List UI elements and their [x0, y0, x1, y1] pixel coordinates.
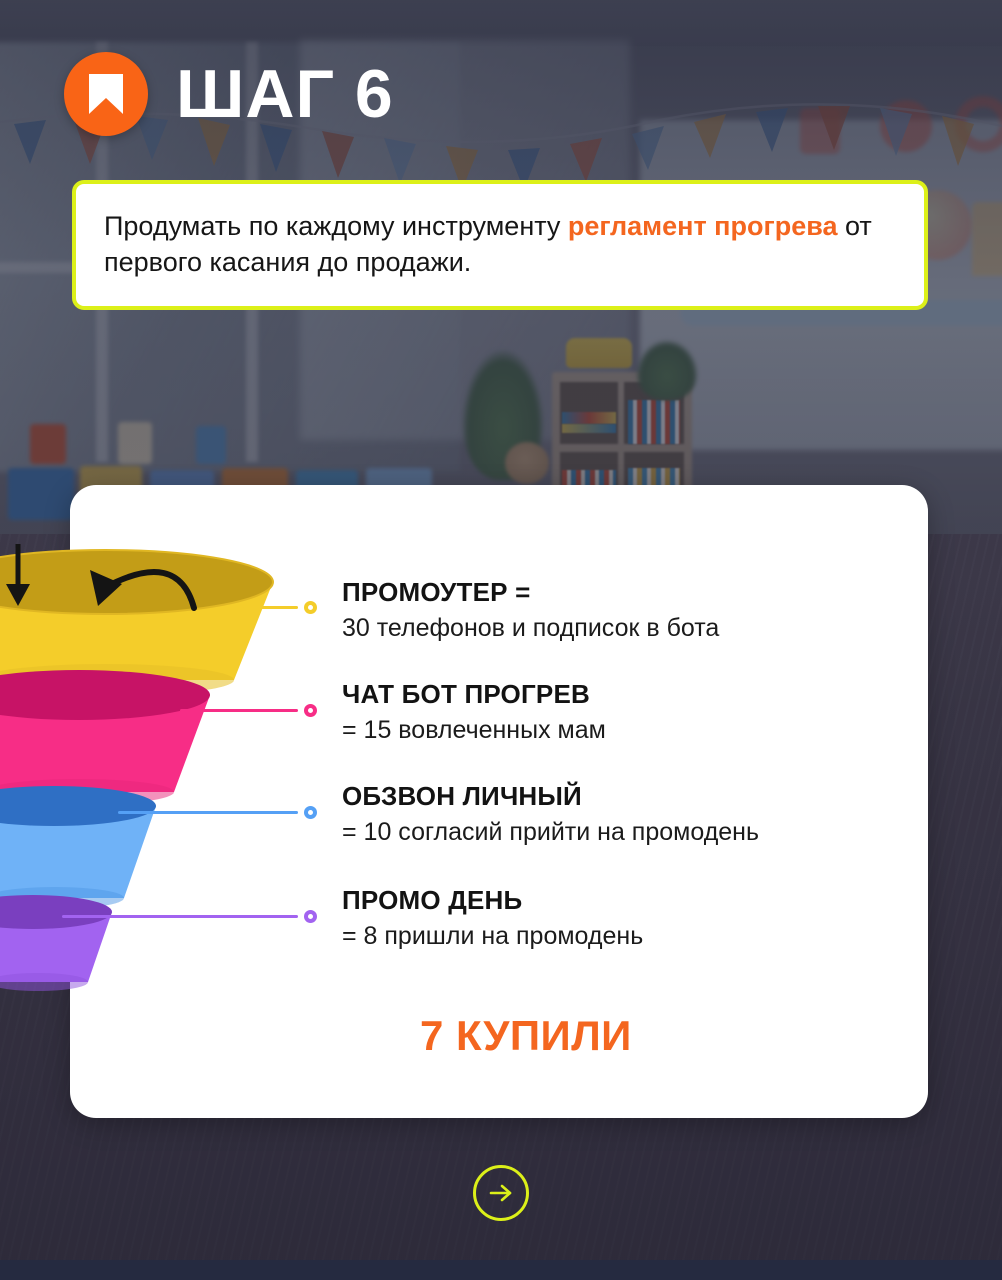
bookmark-icon — [87, 73, 125, 115]
stage-subtitle-3: = 10 согласий прийти на промодень — [342, 816, 759, 849]
connector-dot-4 — [304, 910, 317, 923]
bottom-band — [0, 1260, 1002, 1280]
connector-dot-1 — [304, 601, 317, 614]
stage-title-2: ЧАТ БОТ ПРОГРЕВ — [342, 679, 606, 710]
funnel-card: ПРОМОУТЕР = 30 телефонов и подписок в бо… — [70, 485, 928, 1118]
connector-1 — [243, 601, 317, 614]
stage-title-4: ПРОМО ДЕНЬ — [342, 885, 643, 916]
stage-title-1: ПРОМОУТЕР = — [342, 577, 719, 608]
connector-2 — [180, 704, 317, 717]
callout-text-before: Продумать по каждому инструменту — [104, 211, 568, 241]
funnel-rows: ПРОМОУТЕР = 30 телефонов и подписок в бо… — [70, 555, 928, 975]
funnel-result: 7 КУПИЛИ — [420, 1012, 632, 1060]
stage-item-1: ПРОМОУТЕР = 30 телефонов и подписок в бо… — [342, 577, 719, 645]
page-title: ШАГ 6 — [176, 60, 394, 128]
connector-line-1 — [243, 606, 298, 609]
connector-3 — [118, 806, 317, 819]
stage-title-3: ОБЗВОН ЛИЧНЫЙ — [342, 781, 759, 812]
stage-item-4: ПРОМО ДЕНЬ = 8 пришли на промодень — [342, 885, 643, 953]
slide-root: ШАГ 6 Продумать по каждому инструменту р… — [0, 0, 1002, 1280]
bookmark-badge — [64, 52, 148, 136]
callout-box: Продумать по каждому инструменту регламе… — [72, 180, 928, 310]
stage-item-2: ЧАТ БОТ ПРОГРЕВ = 15 вовлеченных мам — [342, 679, 606, 747]
stage-subtitle-4: = 8 пришли на промодень — [342, 920, 643, 953]
connector-dot-3 — [304, 806, 317, 819]
stage-subtitle-1: 30 телефонов и подписок в бота — [342, 612, 719, 645]
callout-text: Продумать по каждому инструменту регламе… — [104, 208, 896, 280]
callout-highlight: регламент прогрева — [568, 211, 838, 241]
stage-item-3: ОБЗВОН ЛИЧНЫЙ = 10 согласий прийти на пр… — [342, 781, 759, 849]
stage-subtitle-2: = 15 вовлеченных мам — [342, 714, 606, 747]
arrow-right-icon — [487, 1181, 515, 1205]
connector-dot-2 — [304, 704, 317, 717]
next-button[interactable] — [473, 1165, 529, 1221]
connector-4 — [62, 910, 317, 923]
connector-line-4 — [62, 915, 298, 918]
connector-line-2 — [180, 709, 298, 712]
header: ШАГ 6 — [64, 52, 394, 136]
connector-line-3 — [118, 811, 298, 814]
